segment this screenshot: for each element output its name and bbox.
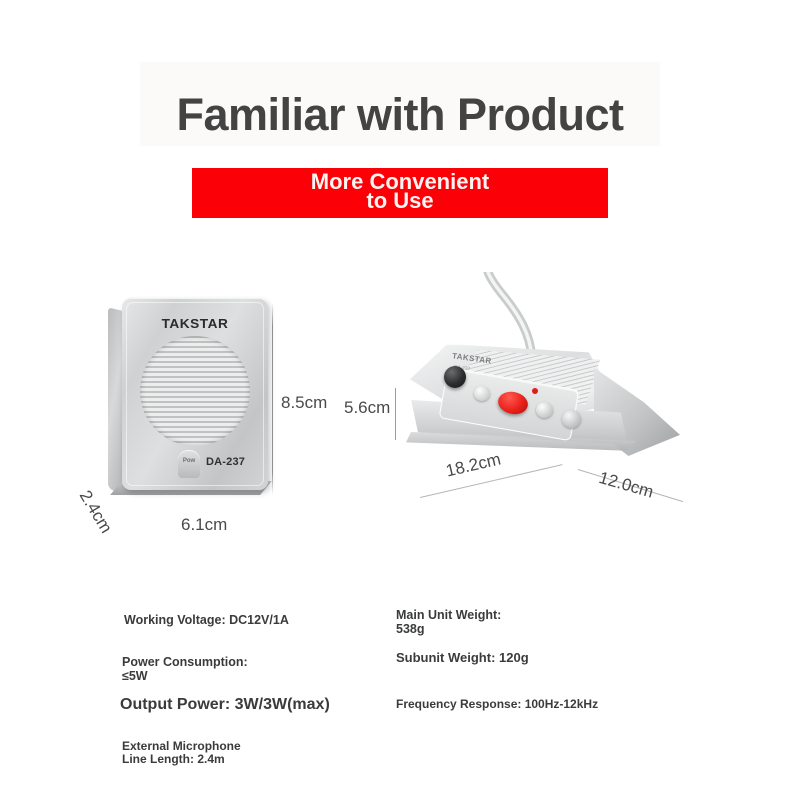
- spec-external-microphone-line-length: External Microphone Line Length: 2.4m: [122, 740, 241, 767]
- page-title-line1: Familiar with Product: [0, 96, 800, 134]
- desk-intercom-image: TAKSTAR DA-237: [396, 282, 686, 497]
- power-led-indicator: [532, 388, 538, 394]
- spec-power-consumption: Power Consumption: ≤5W: [122, 655, 248, 683]
- desk-intercom-height-label: 5.6cm: [344, 398, 390, 418]
- volume-knob-1: [474, 386, 490, 401]
- spec-frequency-response: Frequency Response: 100Hz-12kHz: [396, 698, 598, 711]
- wall-speaker-front-face: TAKSTAR Pow DA-237: [122, 298, 268, 490]
- wall-speaker-height-label: 8.5cm: [281, 393, 327, 413]
- subtitle-banner-text: More Convenient to Use: [192, 172, 608, 211]
- wall-speaker-power-button: [178, 450, 200, 478]
- volume-knob-3: [562, 410, 581, 428]
- wall-speaker-power-button-label: Pow: [176, 458, 202, 464]
- wall-speaker-width-label: 6.1cm: [181, 515, 227, 535]
- spec-subunit-weight: Subunit Weight: 120g: [396, 651, 529, 666]
- spec-main-unit-weight: Main Unit Weight: 538g: [396, 608, 501, 636]
- selector-knob-black: [444, 366, 466, 388]
- desk-intercom-height-dimension-line: [395, 388, 396, 440]
- spec-output-power: Output Power: 3W/3W(max): [120, 696, 330, 714]
- subtitle-line2: to Use: [192, 191, 608, 211]
- volume-knob-2: [536, 402, 553, 418]
- wall-speaker-image: TAKSTAR Pow DA-237: [108, 298, 283, 508]
- wall-speaker-model-label: DA-237: [206, 456, 245, 468]
- product-parameters-infographic: Familiar with Product Parameters More Co…: [0, 0, 800, 800]
- wall-speaker-height-dimension-line: [272, 303, 273, 495]
- spec-working-voltage: Working Voltage: DC12V/1A: [124, 613, 289, 627]
- wall-speaker-brand-logo: TAKSTAR: [122, 316, 268, 331]
- wall-speaker-grille: [140, 336, 250, 446]
